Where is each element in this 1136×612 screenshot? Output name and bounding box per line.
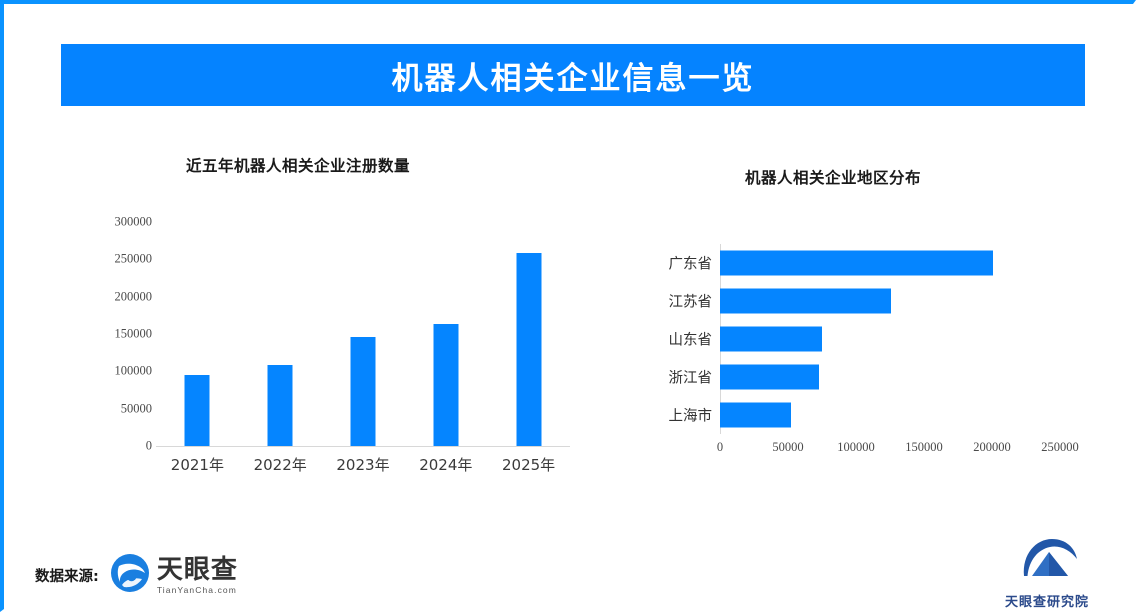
bar-slot[interactable] (239, 222, 322, 446)
x-tick-label: 250000 (1041, 440, 1079, 455)
category-label: 广东省 (669, 253, 713, 274)
bar-slot[interactable] (156, 222, 239, 446)
x-tick-label: 2021年 (156, 454, 239, 475)
tianyancha-brand-en: TianYanCha.com (157, 586, 238, 595)
page-title: 机器人相关企业信息一览 (392, 53, 755, 98)
x-tick-label: 2024年 (404, 454, 487, 475)
y-tick-label: 200000 (115, 289, 153, 304)
x-tick-label: 0 (717, 440, 723, 455)
data-source-label: 数据来源: (35, 565, 99, 586)
vertical-bar[interactable] (268, 365, 293, 446)
x-tick-label: 100000 (837, 440, 875, 455)
x-tick-label: 150000 (905, 440, 943, 455)
region-chart-title: 机器人相关企业地区分布 (745, 166, 921, 188)
y-tick-label: 0 (146, 439, 152, 454)
region-bar-group (720, 244, 1060, 434)
region-category-labels: 广东省江苏省山东省浙江省上海市 (644, 244, 712, 432)
y-tick-label: 150000 (115, 327, 153, 342)
region-x-axis-labels: 050000100000150000200000250000 (720, 440, 1060, 462)
x-tick-label: 2023年 (322, 454, 405, 475)
region-chart-panel: 机器人相关企业地区分布 广东省江苏省山东省浙江省上海市 050000100000… (644, 154, 1074, 504)
registrations-chart-title: 近五年机器人相关企业注册数量 (186, 154, 410, 176)
bar-slot[interactable] (404, 222, 487, 446)
x-tick-label: 50000 (772, 440, 803, 455)
x-tick-label: 2025年 (487, 454, 570, 475)
registrations-chart-panel: 近五年机器人相关企业注册数量 0500001000001500002000002… (90, 154, 570, 499)
tianyancha-arch-icon (1012, 532, 1082, 589)
y-tick-label: 300000 (115, 215, 153, 230)
registrations-plot-area: 050000100000150000200000250000300000 202… (90, 222, 570, 462)
bar-slot[interactable] (322, 222, 405, 446)
bar-slot[interactable] (487, 222, 570, 446)
tianyancha-eye-icon (109, 552, 151, 599)
tianyancha-logo: 天眼查 TianYanCha.com (109, 552, 238, 599)
data-source-footer: 数据来源: 天眼查 TianYanCha.com (35, 552, 238, 599)
category-label: 江苏省 (669, 291, 713, 312)
horizontal-bar[interactable] (720, 289, 891, 314)
x-tick-label: 2022年 (239, 454, 322, 475)
y-tick-label: 50000 (121, 401, 152, 416)
tianyancha-wordmark: 天眼查 TianYanCha.com (157, 557, 238, 595)
region-plot-area: 广东省江苏省山东省浙江省上海市 050000100000150000200000… (644, 244, 1064, 444)
horizontal-bar[interactable] (720, 327, 822, 352)
registrations-x-axis-labels: 2021年2022年2023年2024年2025年 (156, 454, 570, 482)
vertical-bar[interactable] (516, 253, 541, 446)
y-tick-label: 100000 (115, 364, 153, 379)
y-tick-label: 250000 (115, 252, 153, 267)
category-label: 上海市 (669, 405, 713, 426)
x-tick-label: 200000 (973, 440, 1011, 455)
horizontal-bar[interactable] (720, 251, 993, 276)
registrations-bar-group (156, 222, 570, 446)
horizontal-bar[interactable] (720, 403, 791, 428)
registrations-y-axis-labels: 050000100000150000200000250000300000 (90, 222, 152, 446)
category-label: 浙江省 (669, 367, 713, 388)
infographic-page: 机器人相关企业信息一览 近五年机器人相关企业注册数量 0500001000001… (0, 0, 1136, 612)
vertical-bar[interactable] (433, 324, 458, 446)
institute-footer: 天眼查研究院 (987, 532, 1107, 610)
registrations-x-axis-line (156, 446, 570, 447)
horizontal-bar[interactable] (720, 365, 819, 390)
vertical-bar[interactable] (350, 337, 375, 446)
title-banner: 机器人相关企业信息一览 (61, 44, 1085, 106)
vertical-bar[interactable] (185, 375, 210, 446)
tianyancha-brand-cn: 天眼查 (157, 557, 238, 583)
institute-name: 天眼查研究院 (1005, 591, 1089, 610)
category-label: 山东省 (669, 329, 713, 350)
